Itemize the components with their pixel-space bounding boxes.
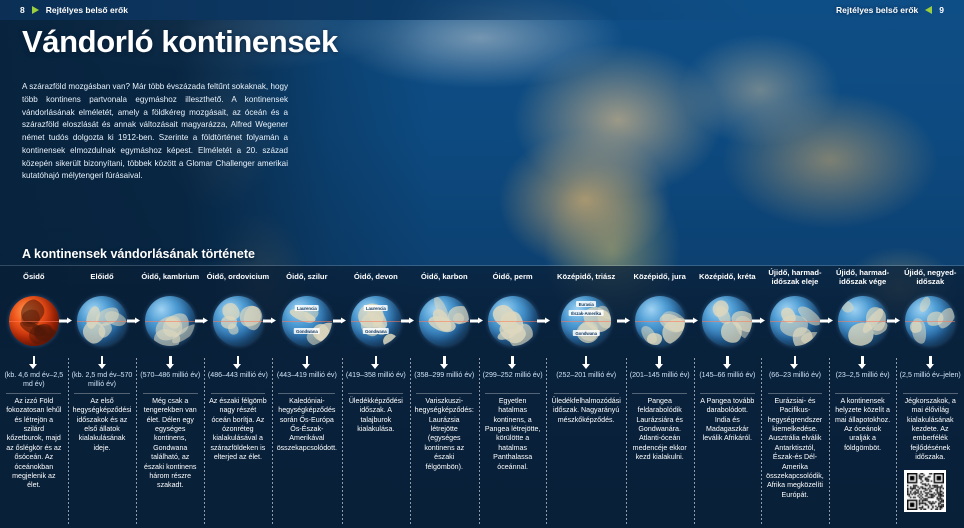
timeline-period-name: Óidő, karbon <box>421 266 468 287</box>
page-number-left: 8 <box>20 5 25 15</box>
globe-container: EurasiaÉszak-AmerikaGondwana <box>548 287 623 355</box>
earth-globe-icon: LaurenciaGondwana <box>351 296 401 346</box>
timeline-period-years: (570–486 millió év) <box>140 371 200 390</box>
arrow-right-icon <box>685 318 698 325</box>
page-title: Vándorló kontinensek <box>22 24 338 60</box>
landmass <box>840 299 856 315</box>
landmass <box>917 296 932 314</box>
timeline-period-years: (299–252 millió év) <box>483 371 543 390</box>
timeline-period-description: Jégkorszakok, a mai élővilág kialakulásá… <box>898 397 962 463</box>
earth-globe-icon: LaurenciaGondwana <box>282 296 332 346</box>
running-title-right: Rejtélyes belső erők <box>836 5 918 15</box>
arrow-right-icon <box>127 318 140 325</box>
timeline-period-name: Óidő, szilur <box>286 266 327 287</box>
globe-container: LaurenciaGondwana <box>344 287 408 355</box>
timeline: Ősidő(kb. 4,6 md év–2,5 md év)Az izzó Fö… <box>0 266 964 528</box>
arrow-right-icon <box>59 318 72 325</box>
arrow-down-icon <box>29 356 38 369</box>
equator-line <box>145 321 195 322</box>
timeline-period-years: (252–201 millió év) <box>556 371 616 390</box>
globe-container <box>831 287 895 355</box>
arrow-down-icon <box>233 356 242 369</box>
qr-code-image <box>907 473 944 510</box>
globe-container <box>206 287 270 355</box>
timeline-period-description: Egyetlen hatalmas kontinens, a Pangea lé… <box>481 397 545 472</box>
arrow-down-icon <box>655 356 664 369</box>
timeline-period-name: Előidő <box>90 266 113 287</box>
earth-globe-icon <box>213 296 263 346</box>
timeline-period-years: (443–419 millió év) <box>277 371 337 390</box>
globe-container <box>628 287 692 355</box>
timeline-period-name: Óidő, kambrium <box>141 266 199 287</box>
timeline-period-years: (486–443 millió év) <box>208 371 268 390</box>
timeline-column[interactable]: Óidő, szilurLaurenciaGondwana(443–419 mi… <box>272 266 342 528</box>
arrow-down-icon <box>858 356 867 369</box>
timeline-period-name: Óidő, perm <box>493 266 533 287</box>
arrow-down-icon <box>582 356 591 369</box>
arrow-down-icon <box>926 356 935 369</box>
equator-line <box>838 321 888 322</box>
arrow-right-icon <box>263 318 276 325</box>
globe-container <box>70 287 135 355</box>
page-root: 8 Rejtélyes belső erők Rejtélyes belső e… <box>0 0 964 528</box>
timeline-column[interactable]: Középidő, kréta(145–66 millió év)A Pange… <box>694 266 762 528</box>
column-divider <box>485 393 540 394</box>
timeline-period-description: Az izzó Föld fokozatosan lehűl és létrej… <box>2 397 66 491</box>
timeline-period-name: Középidő, kréta <box>699 266 756 287</box>
column-divider <box>143 393 198 394</box>
timeline-period-description: Az északi félgömb nagy részét óceán borí… <box>206 397 270 463</box>
triangle-right-icon <box>32 6 39 14</box>
timeline-period-years: (2,5 millió év–jelen) <box>900 371 961 390</box>
timeline-period-description: Üledékfelhalmozódási időszak. Nagyarányú… <box>548 397 623 425</box>
arrow-down-icon <box>440 356 449 369</box>
page-number-right: 9 <box>939 5 944 15</box>
timeline-column[interactable]: Ősidő(kb. 4,6 md év–2,5 md év)Az izzó Fö… <box>0 266 68 528</box>
timeline-period-years: (23–2,5 millió év) <box>836 371 890 390</box>
timeline-column[interactable]: Óidő, devonLaurenciaGondwana(419–358 mil… <box>342 266 410 528</box>
header-right: Rejtélyes belső erők 9 <box>836 0 964 20</box>
globe-continent-label: Laurencia <box>295 305 320 311</box>
globe-container <box>138 287 202 355</box>
globe-container <box>2 287 66 355</box>
timeline-period-name: Óidő, devon <box>354 266 398 287</box>
globe-continent-label: Gondwana <box>573 330 599 336</box>
timeline-period-name: Középidő, jura <box>634 266 686 287</box>
arrow-down-icon <box>508 356 517 369</box>
timeline-column[interactable]: Előidő(kb. 2,5 md év–570 millió év)Az el… <box>68 266 137 528</box>
earth-globe-icon <box>905 296 955 346</box>
earth-globe-icon <box>145 296 195 346</box>
globe-continent-label: Gondwana <box>363 328 389 334</box>
arrow-right-icon <box>537 318 550 325</box>
arrow-right-icon <box>887 318 900 325</box>
timeline-period-description: Eurázsiai- és Pacifikus-hegységrendszer … <box>763 397 827 500</box>
equator-line <box>9 321 59 322</box>
earth-globe-icon <box>702 296 752 346</box>
equator-line <box>702 321 752 322</box>
equator-line <box>351 321 401 322</box>
arrow-down-icon <box>166 356 175 369</box>
timeline-period-description: A kontinensek helyzete közelít a mai áll… <box>831 397 895 453</box>
timeline-period-name: Újidő, harmad-időszak eleje <box>763 266 827 287</box>
globe-continent-label: Gondwana <box>294 328 320 334</box>
arrow-right-icon <box>401 318 414 325</box>
globe-continent-label: Laurencia <box>364 305 389 311</box>
timeline-column[interactable]: Középidő, triászEurasiaÉszak-AmerikaGond… <box>546 266 625 528</box>
equator-line <box>488 321 538 322</box>
column-divider <box>211 393 266 394</box>
equator-line <box>419 321 469 322</box>
column-divider <box>6 393 61 394</box>
page-header: 8 Rejtélyes belső erők Rejtélyes belső e… <box>0 0 964 20</box>
earth-globe-icon <box>770 296 820 346</box>
column-divider <box>278 393 335 394</box>
column-divider <box>74 393 130 394</box>
arrow-right-icon <box>333 318 346 325</box>
timeline-period-years: (145–66 millió év) <box>699 371 755 390</box>
arrow-down-icon <box>723 356 732 369</box>
timeline-column[interactable]: Újidő, harmad-időszak eleje(66–23 millió… <box>761 266 829 528</box>
timeline-period-description: Pangea feldarabolódik Laurázsiára és Gon… <box>628 397 692 463</box>
timeline-column[interactable]: Újidő, harmad-időszak vége(23–2,5 millió… <box>829 266 897 528</box>
arrow-right-icon <box>617 318 630 325</box>
timeline-period-years: (358–299 millió év) <box>414 371 474 390</box>
timeline-period-years: (66–23 millió év) <box>769 371 821 390</box>
column-divider <box>632 393 687 394</box>
earth-globe-icon: EurasiaÉszak-AmerikaGondwana <box>561 296 611 346</box>
equator-line <box>213 321 263 322</box>
landmass <box>647 333 662 345</box>
timeline-period-description: Kaledóniai-hegységképződés során Ős-Euró… <box>274 397 340 453</box>
arrow-right-icon <box>752 318 765 325</box>
arrow-down-icon <box>98 356 107 369</box>
timeline-period-name: Ősidő <box>23 266 45 287</box>
timeline-period-description: Az első hegységképződési időszakok és az… <box>70 397 135 453</box>
globe-container <box>481 287 545 355</box>
timeline-period-name: Újidő, negyed-időszak <box>898 266 962 287</box>
timeline-column[interactable]: Óidő, karbon(358–299 millió év)Variszkus… <box>410 266 479 528</box>
globe-container: LaurenciaGondwana <box>274 287 340 355</box>
qr-code[interactable] <box>904 470 946 512</box>
timeline-period-years: (419–358 millió év) <box>346 371 406 390</box>
timeline-period-name: Újidő, harmad-időszak vége <box>831 266 895 287</box>
timeline-column[interactable]: Óidő, perm(299–252 millió év)Egyetlen ha… <box>479 266 547 528</box>
arrow-right-icon <box>470 318 483 325</box>
column-divider <box>768 393 823 394</box>
triangle-left-icon <box>925 6 932 14</box>
arrow-down-icon <box>371 356 380 369</box>
earth-globe-icon <box>635 296 685 346</box>
timeline-period-years: (201–145 millió év) <box>630 371 690 390</box>
arrow-right-icon <box>820 318 833 325</box>
arrow-down-icon <box>302 356 311 369</box>
globe-container <box>763 287 827 355</box>
timeline-period-description: A Pangea tovább darabolódott. India és M… <box>696 397 760 444</box>
timeline-period-years: (kb. 4,6 md év–2,5 md év) <box>2 371 66 390</box>
header-left: 8 Rejtélyes belső erők <box>0 5 128 15</box>
equator-line <box>905 321 955 322</box>
globe-continent-label: Észak-Amerika <box>569 310 604 316</box>
timeline-column[interactable]: Középidő, jura(201–145 millió év)Pangea … <box>626 266 694 528</box>
timeline-period-name: Óidő, ordovicium <box>207 266 269 287</box>
column-divider <box>835 393 890 394</box>
earth-globe-icon <box>488 296 538 346</box>
arrow-right-icon <box>195 318 208 325</box>
column-divider <box>416 393 472 394</box>
equator-line <box>635 321 685 322</box>
timeline-column[interactable]: Óidő, kambrium(570–486 millió év)Még csa… <box>136 266 204 528</box>
earth-globe-icon <box>77 296 127 346</box>
column-divider <box>554 393 619 394</box>
equator-line <box>770 321 820 322</box>
column-divider <box>700 393 755 394</box>
running-title-left: Rejtélyes belső erők <box>46 5 128 15</box>
equator-line <box>77 321 127 322</box>
timeline-period-description: Még csak a tengerekben van élet. Délen e… <box>138 397 202 491</box>
timeline-period-description: Variszkuszi-hegységképződés: Laurázsia l… <box>412 397 477 472</box>
timeline-heading: A kontinensek vándorlásának története <box>22 247 255 261</box>
timeline-period-years: (kb. 2,5 md év–570 millió év) <box>70 371 135 390</box>
molten-earth-globe-icon <box>9 296 59 346</box>
equator-line <box>561 321 611 322</box>
column-divider <box>903 393 958 394</box>
equator-line <box>282 321 332 322</box>
column-divider <box>348 393 403 394</box>
globe-container <box>412 287 477 355</box>
timeline-column[interactable]: Óidő, ordovicium(486–443 millió év)Az és… <box>204 266 272 528</box>
arrow-down-icon <box>790 356 799 369</box>
intro-paragraph: A szárazföld mozgásban van? Már több évs… <box>22 81 288 183</box>
earth-globe-icon <box>838 296 888 346</box>
globe-continent-label: Eurasia <box>576 301 596 307</box>
globe-container <box>696 287 760 355</box>
earth-globe-icon <box>419 296 469 346</box>
globe-container <box>898 287 962 355</box>
timeline-period-description: Üledékképződési időszak. A talajburok ki… <box>344 397 408 434</box>
timeline-period-name: Középidő, triász <box>557 266 615 287</box>
